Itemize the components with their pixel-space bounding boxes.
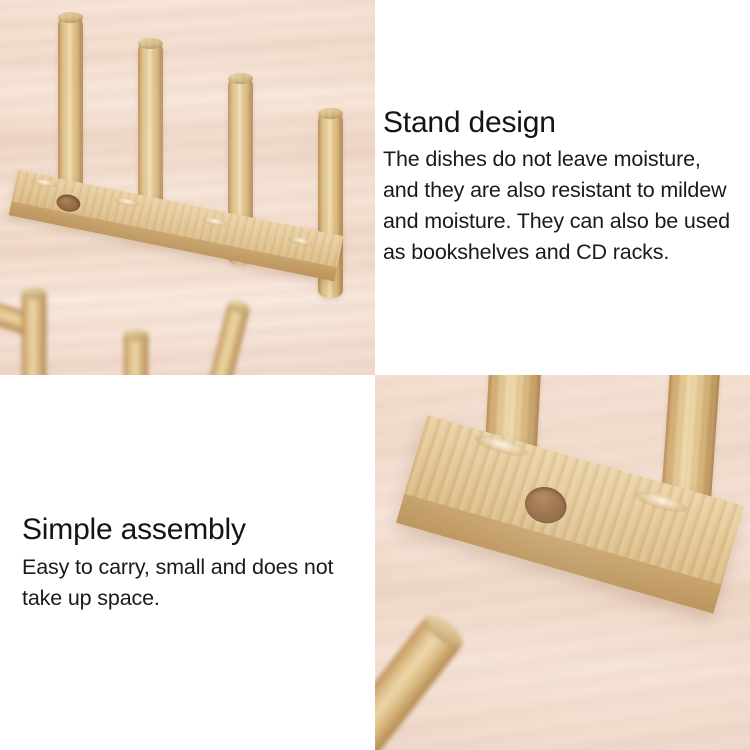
body-line: and they are also resistant to mildew [383,175,743,206]
body-line: take up space. [22,583,367,614]
product-feature-collage: Stand design The dishes do not leave moi… [0,0,750,750]
photo-vignette [0,0,375,375]
simple-assembly-copy: Simple assembly Easy to carry, small and… [22,512,367,614]
stand-design-heading: Stand design [383,105,743,140]
body-line: Easy to carry, small and does not [22,552,367,583]
body-line: as bookshelves and CD racks. [383,237,743,268]
photo-simple-assembly [375,375,750,750]
photo-stand-design [0,0,375,375]
text-panel-simple-assembly: Simple assembly Easy to carry, small and… [0,375,375,750]
body-line: The dishes do not leave moisture, [383,144,743,175]
photo-vignette [375,375,750,750]
stand-design-copy: Stand design The dishes do not leave moi… [383,105,743,268]
text-panel-stand-design: Stand design The dishes do not leave moi… [375,0,750,375]
stand-design-body: The dishes do not leave moisture, and th… [383,144,743,268]
simple-assembly-body: Easy to carry, small and does not take u… [22,552,367,614]
body-line: and moisture. They can also be used [383,206,743,237]
simple-assembly-heading: Simple assembly [22,512,367,547]
